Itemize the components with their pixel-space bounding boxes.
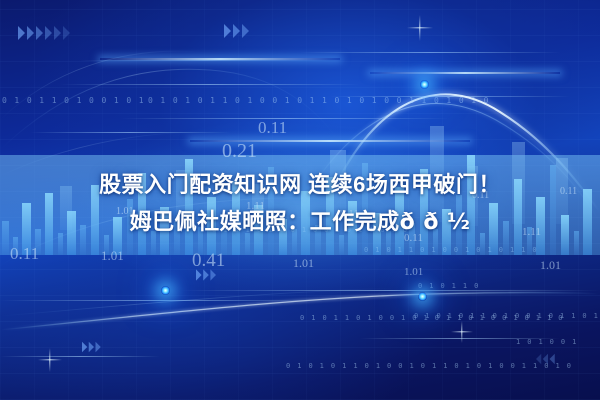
light-streak bbox=[180, 290, 600, 291]
decimal-number: 1.01 bbox=[540, 258, 561, 273]
light-streak bbox=[330, 96, 570, 97]
decimal-number: 1.01 bbox=[293, 256, 314, 271]
decimal-number: 0.11 bbox=[258, 118, 287, 138]
bright-light-streak bbox=[370, 72, 560, 74]
light-streak bbox=[0, 356, 160, 357]
binary-string: 0 1 0 1 0 1 1 0 1 0 0 1 0 1 1 0 1 0 1 0 … bbox=[286, 362, 572, 370]
headline-line-2: 姆巴佩社媒晒照：工作完成ð ð ½ bbox=[0, 203, 600, 241]
binary-string: 0 1 0 1 1 0 1 0 0 1 0 1 0 1 1 0 bbox=[364, 246, 538, 254]
binary-string: 0 1 0 1 1 0 1 0 0 1 0 1 0 1 1 0 1 0 0 1 … bbox=[300, 314, 564, 322]
light-streak bbox=[60, 84, 360, 85]
decimal-number: 0.11 bbox=[10, 244, 39, 264]
decimal-number: 0.21 bbox=[222, 140, 257, 163]
sparkle-star bbox=[407, 15, 433, 41]
bright-light-streak bbox=[100, 58, 340, 60]
headline-line-1: 股票入门配资知识网 连续6场西甲破门！ bbox=[0, 166, 600, 203]
chevron-arrow-group bbox=[536, 354, 555, 365]
headline-line-2-text: 姆巴佩社媒晒照：工作完成 bbox=[130, 209, 400, 234]
binary-string: 0 1 0 1 1 0 bbox=[418, 282, 480, 290]
light-streak bbox=[0, 300, 320, 301]
chevron-arrow-group bbox=[18, 26, 70, 40]
decimal-number: 1.01 bbox=[404, 266, 423, 278]
glow-dot bbox=[161, 286, 170, 295]
decimal-number: 1.01 bbox=[101, 248, 124, 264]
banner-image: 0 1 0 1 0 1 1 0 1 0 0 1 0 1 1 0 1 0 1 0 … bbox=[0, 0, 600, 400]
light-streak bbox=[30, 132, 230, 133]
glow-dot bbox=[420, 80, 429, 89]
glow-dot bbox=[418, 292, 427, 301]
binary-string: 0 1 0 1 1 0 1 0 0 1 0 1 bbox=[2, 96, 145, 105]
sparkle-star bbox=[451, 321, 473, 343]
headline-emoji-mojibake: ð ð ½ bbox=[400, 210, 471, 235]
bright-light-streak bbox=[190, 140, 470, 142]
binary-string: 0 1 0 1 0 1 1 0 1 0 0 1 0 1 1 0 1 0 1 0 bbox=[414, 312, 600, 320]
decimal-number: 0.41 bbox=[192, 250, 225, 272]
light-streak bbox=[80, 60, 330, 61]
light-streak bbox=[300, 52, 560, 53]
light-streak bbox=[120, 118, 450, 119]
chevron-arrow-group bbox=[82, 342, 101, 353]
light-streak bbox=[360, 338, 560, 339]
binary-string: 0 1 0 1 0 1 1 0 1 0 0 1 0 1 1 0 1 0 1 0 … bbox=[148, 96, 490, 105]
chevron-arrow-group bbox=[196, 269, 216, 280]
binary-string: 1 0 1 0 0 1 bbox=[516, 338, 578, 346]
chevron-arrow-group bbox=[224, 24, 249, 38]
sparkle-star bbox=[38, 348, 62, 372]
